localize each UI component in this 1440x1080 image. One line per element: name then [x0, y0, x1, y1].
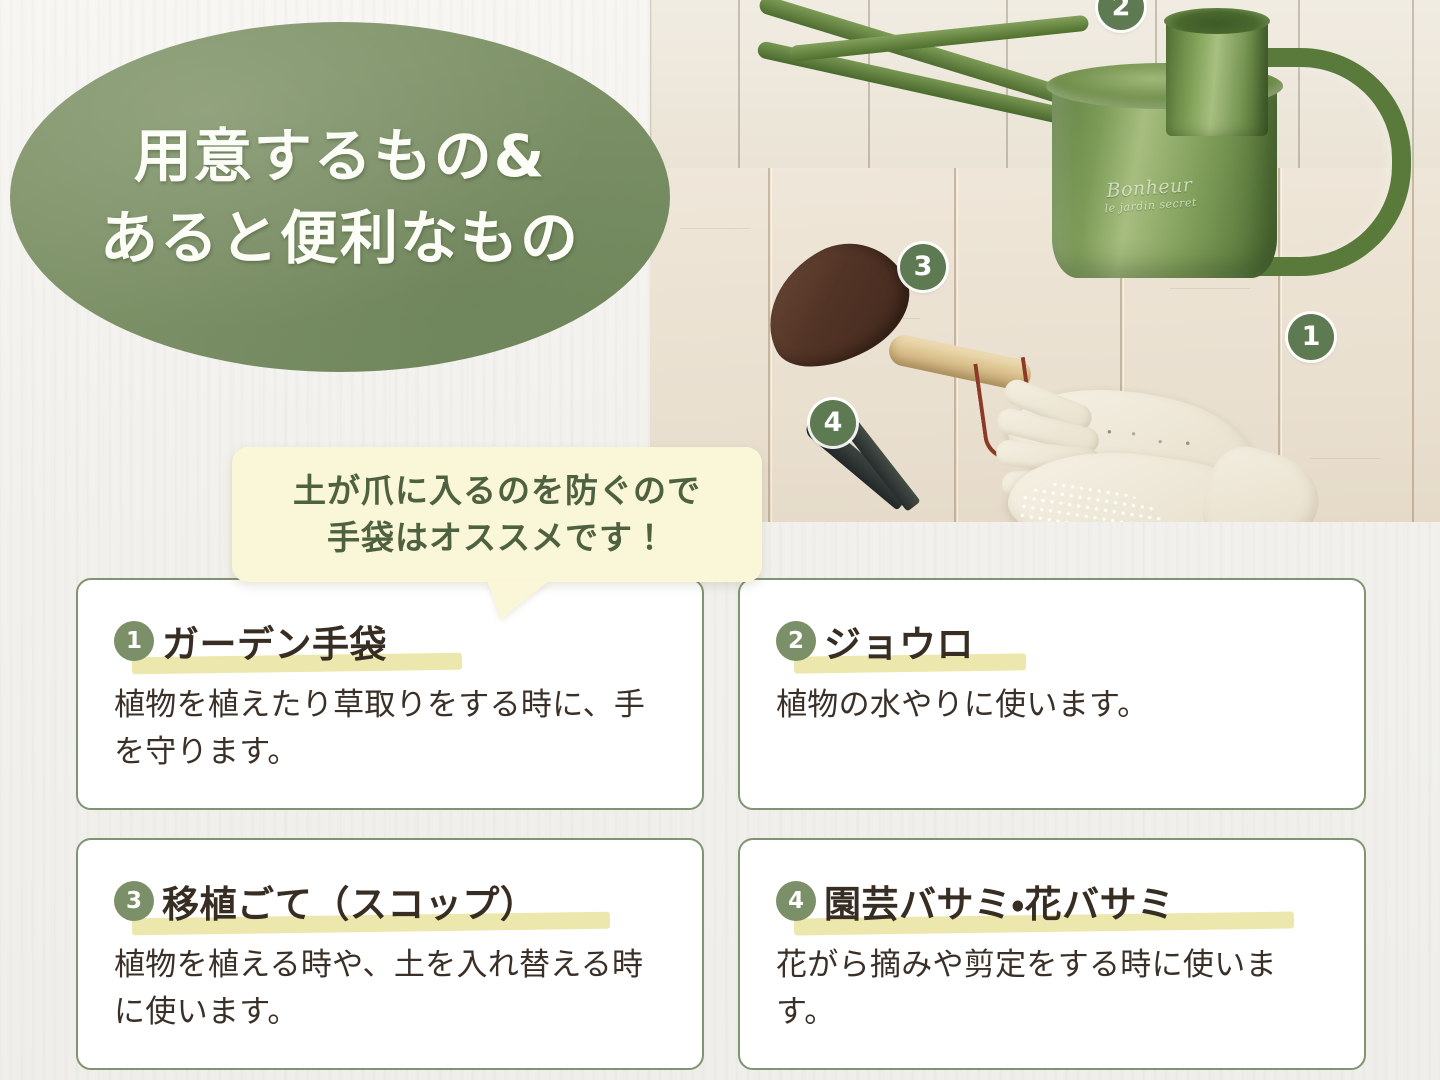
page-title-line-2: あると便利なもの [100, 197, 580, 279]
item-card-1-badge: 1 [114, 621, 154, 661]
item-card-2: 2 ジョウロ 植物の水やりに使います。 [738, 578, 1366, 810]
item-card-2-title: ジョウロ [824, 614, 974, 668]
item-card-4-badge: 4 [776, 881, 816, 921]
item-card-2-badge: 2 [776, 621, 816, 661]
item-cards-grid: 1 ガーデン手袋 植物を植えたり草取りをする時に、手を守ります。 2 ジョウロ … [76, 578, 1366, 1074]
item-card-2-head: 2 ジョウロ [776, 614, 1334, 668]
item-card-3-body: 植物を植える時や、土を入れ替える時に使います。 [114, 942, 672, 1036]
item-card-3-title: 移植ごて（スコップ） [162, 874, 537, 928]
tip-callout-bubble: 土が爪に入るのを防ぐので 手袋はオススメです！ [232, 447, 762, 582]
item-card-4-title: 園芸バサミ・花バサミ [824, 874, 1175, 928]
photo-badge-3: 3 [900, 244, 946, 290]
page-title-ellipse: 用意するもの& あると便利なもの [10, 22, 670, 372]
item-card-3: 3 移植ごて（スコップ） 植物を植える時や、土を入れ替える時に使います。 [76, 838, 704, 1070]
page-title-line-1: 用意するもの& [134, 115, 547, 197]
tip-callout-line-2: 手袋はオススメです！ [327, 515, 667, 562]
tip-callout-tail [487, 581, 549, 619]
tools-photo: Bonheur le jardin secret [650, 0, 1440, 522]
item-card-4-head: 4 園芸バサミ・花バサミ [776, 874, 1334, 928]
item-card-1-title: ガーデン手袋 [162, 614, 387, 668]
item-card-3-head: 3 移植ごて（スコップ） [114, 874, 672, 928]
watering-can-spout-rim [1164, 8, 1270, 34]
item-card-2-body: 植物の水やりに使います。 [776, 682, 1334, 729]
item-card-1-head: 1 ガーデン手袋 [114, 614, 672, 668]
item-card-3-badge: 3 [114, 881, 154, 921]
item-card-1-body: 植物を植えたり草取りをする時に、手を守ります。 [114, 682, 672, 776]
infographic-root: Bonheur le jardin secret [0, 0, 1440, 1080]
item-card-4: 4 園芸バサミ・花バサミ 花がら摘みや剪定をする時に使います。 [738, 838, 1366, 1070]
photo-badge-1: 1 [1288, 314, 1334, 360]
tip-callout-line-1: 土が爪に入るのを防ぐので [293, 468, 701, 515]
item-card-1: 1 ガーデン手袋 植物を植えたり草取りをする時に、手を守ります。 [76, 578, 704, 810]
photo-badge-4: 4 [810, 400, 856, 446]
item-card-4-body: 花がら摘みや剪定をする時に使います。 [776, 942, 1334, 1036]
